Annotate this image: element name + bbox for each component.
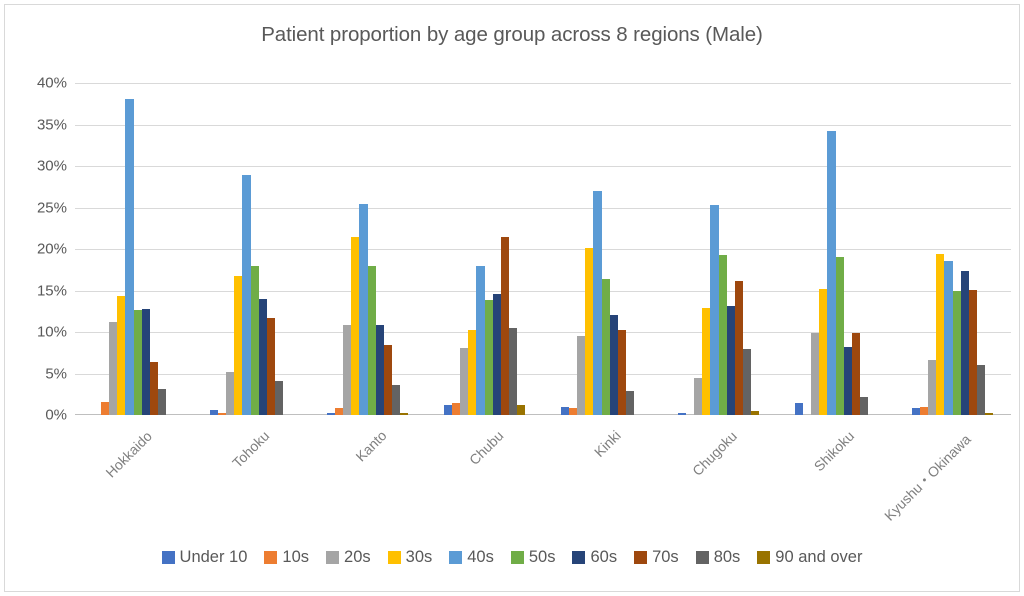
legend-swatch-icon [696,551,709,564]
bar[interactable] [125,99,133,415]
bar[interactable] [961,271,969,415]
bar[interactable] [327,413,335,415]
bar[interactable] [259,299,267,415]
bar[interactable] [117,296,125,415]
bar[interactable] [569,408,577,415]
bar[interactable] [242,175,250,415]
bar[interactable] [158,389,166,415]
bar[interactable] [985,413,993,415]
legend-item[interactable]: 30s [388,548,433,567]
bar[interactable] [735,281,743,415]
legend-label: 40s [467,548,494,567]
bar[interactable] [134,310,142,415]
bar[interactable] [384,345,392,415]
bars [660,83,777,415]
bars [75,83,192,415]
bar[interactable] [618,330,626,415]
bar[interactable] [710,205,718,415]
bar[interactable] [819,289,827,415]
bar[interactable] [376,325,384,415]
bar[interactable] [577,336,585,415]
bar[interactable] [936,254,944,415]
bar[interactable] [452,403,460,415]
bars [894,83,1011,415]
bar[interactable] [109,322,117,415]
legend-label: 30s [406,548,433,567]
value-axis-tick-label: 20% [11,241,67,258]
legend-item[interactable]: 80s [696,548,741,567]
legend-item[interactable]: 70s [634,548,679,567]
bar[interactable] [142,309,150,415]
bar[interactable] [944,261,952,415]
bar[interactable] [335,408,343,415]
category-axis-label: Chubu [465,427,505,467]
value-axis-tick-label: 30% [11,158,67,175]
legend-swatch-icon [572,551,585,564]
bar[interactable] [602,279,610,415]
bar[interactable] [827,131,835,415]
value-axis-tick-label: 5% [11,365,67,382]
legend-item[interactable]: 90 and over [757,548,862,567]
bar-groups: HokkaidoTohokuKantoChubuKinkiChugokuShik… [75,83,1011,415]
bar[interactable] [912,408,920,415]
legend-swatch-icon [264,551,277,564]
value-axis-tick-label: 0% [11,407,67,424]
bar[interactable] [501,237,509,415]
legend-label: 80s [714,548,741,567]
legend-label: 90 and over [775,548,862,567]
value-axis-tick-label: 40% [11,75,67,92]
bar[interactable] [509,328,517,415]
bar[interactable] [719,255,727,415]
bar[interactable] [727,306,735,415]
bar[interactable] [702,308,710,415]
bar[interactable] [743,349,751,415]
bar[interactable] [751,411,759,415]
bar-group: Kyushu・Okinawa [894,83,1011,415]
chart-container: Patient proportion by age group across 8… [4,4,1020,592]
bar-group: Tohoku [192,83,309,415]
legend-label: 70s [652,548,679,567]
bar[interactable] [517,405,525,415]
bar[interactable] [485,300,493,415]
bar-group: Chubu [426,83,543,415]
legend-swatch-icon [511,551,524,564]
category-axis-label: Kinki [590,427,623,460]
bar[interactable] [694,378,702,415]
bar[interactable] [476,266,484,415]
bar[interactable] [359,204,367,415]
bar-group: Kinki [543,83,660,415]
bar[interactable] [593,191,601,415]
bar[interactable] [953,291,961,415]
category-axis-label: Chugoku [689,428,740,479]
bar[interactable] [392,385,400,415]
bars [543,83,660,415]
bar-group: Shikoku [777,83,894,415]
category-axis-label: Kanto [352,427,389,464]
bar[interactable] [836,257,844,415]
bar[interactable] [610,315,618,415]
bar-group: Kanto [309,83,426,415]
bar[interactable] [928,360,936,415]
legend-item[interactable]: 20s [326,548,371,567]
legend-label: Under 10 [180,548,248,567]
bars [426,83,543,415]
legend-swatch-icon [634,551,647,564]
bar[interactable] [860,397,868,415]
bars [192,83,309,415]
legend-label: 20s [344,548,371,567]
value-axis-tick-label: 25% [11,199,67,216]
bar[interactable] [920,407,928,415]
bar-group: Chugoku [660,83,777,415]
bar[interactable] [468,330,476,415]
bars [309,83,426,415]
legend-item[interactable]: 10s [264,548,309,567]
bar[interactable] [343,325,351,415]
value-axis-tick-label: 15% [11,282,67,299]
bar[interactable] [251,266,259,415]
bar[interactable] [275,381,283,415]
value-axis-tick-label: 10% [11,324,67,341]
category-axis-label: Kyushu・Okinawa [879,430,975,526]
legend-label: 60s [590,548,617,567]
bar[interactable] [585,248,593,415]
bar[interactable] [795,403,803,415]
legend-swatch-icon [757,551,770,564]
category-axis-label: Shikoku [810,428,857,475]
bar[interactable] [977,365,985,415]
bar[interactable] [226,372,234,415]
bar[interactable] [267,318,275,415]
bar[interactable] [351,237,359,415]
plot-area: 0%5%10%15%20%25%30%35%40% HokkaidoTohoku… [75,83,1011,415]
legend: Under 1010s20s30s40s50s60s70s80s90 and o… [5,548,1019,567]
bar[interactable] [101,402,109,415]
category-axis-label: Hokkaido [102,428,155,481]
bar[interactable] [444,405,452,415]
bar[interactable] [969,290,977,415]
bar[interactable] [150,362,158,415]
bar[interactable] [678,413,686,415]
chart-title: Patient proportion by age group across 8… [5,23,1019,47]
bar[interactable] [210,410,218,415]
legend-label: 10s [282,548,309,567]
legend-item[interactable]: 50s [511,548,556,567]
bar[interactable] [400,413,408,415]
bar[interactable] [493,294,501,415]
bar[interactable] [561,407,569,415]
bar[interactable] [460,348,468,415]
bar[interactable] [626,391,634,415]
legend-item[interactable]: Under 10 [162,548,248,567]
bar[interactable] [811,333,819,415]
bar[interactable] [844,347,852,415]
bar[interactable] [218,413,226,415]
bars [777,83,894,415]
bar[interactable] [368,266,376,415]
legend-item[interactable]: 60s [572,548,617,567]
value-axis-tick-label: 35% [11,116,67,133]
legend-label: 50s [529,548,556,567]
legend-swatch-icon [449,551,462,564]
category-axis-label: Tohoku [229,428,272,471]
bar-group: Hokkaido [75,83,192,415]
bar[interactable] [852,333,860,415]
bar[interactable] [234,276,242,415]
legend-swatch-icon [162,551,175,564]
legend-swatch-icon [388,551,401,564]
legend-swatch-icon [326,551,339,564]
legend-item[interactable]: 40s [449,548,494,567]
